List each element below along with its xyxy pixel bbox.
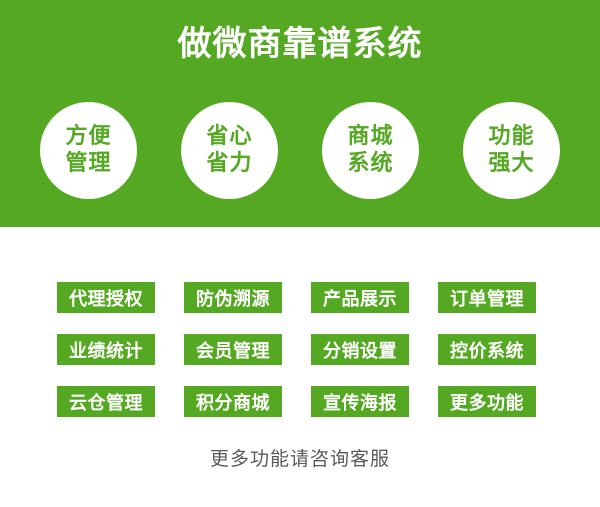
circle-label-line1: 功能	[488, 123, 534, 150]
highlight-circle-mall-system: 商城 系统	[322, 102, 419, 199]
feature-tag-cloud-warehouse-management[interactable]: 云仓管理	[57, 386, 155, 417]
feature-tag-promotional-poster[interactable]: 宣传海报	[311, 386, 409, 417]
feature-tag-price-control-system[interactable]: 控价系统	[438, 334, 536, 365]
circle-label-line1: 方便	[65, 123, 111, 150]
feature-tag-row: 业绩统计 会员管理 分销设置 控价系统	[57, 334, 536, 365]
promo-poster: 做微商靠谱系统 方便 管理 省心 省力 商城 系统 功能 强大 代理授权	[0, 0, 600, 507]
circle-label-line2: 管理	[65, 150, 111, 177]
feature-tag-distribution-settings[interactable]: 分销设置	[311, 334, 409, 365]
footer-note: 更多功能请咨询客服	[0, 446, 600, 472]
highlight-circle-powerful-features: 功能 强大	[463, 102, 560, 199]
hero-banner: 做微商靠谱系统 方便 管理 省心 省力 商城 系统 功能 强大	[0, 0, 600, 227]
feature-tag-member-management[interactable]: 会员管理	[184, 334, 282, 365]
circle-label-line2: 强大	[488, 150, 534, 177]
feature-tag-more-features[interactable]: 更多功能	[438, 386, 536, 417]
feature-tag-row: 代理授权 防伪溯源 产品展示 订单管理	[57, 282, 536, 313]
feature-tag-order-management[interactable]: 订单管理	[438, 282, 536, 313]
circle-label-line1: 省心	[206, 123, 252, 150]
circle-label-line2: 系统	[347, 150, 393, 177]
circle-label-line2: 省力	[206, 150, 252, 177]
highlight-circle-row: 方便 管理 省心 省力 商城 系统 功能 强大	[40, 101, 560, 199]
feature-tag-row: 云仓管理 积分商城 宣传海报 更多功能	[57, 386, 536, 417]
feature-tag-grid: 代理授权 防伪溯源 产品展示 订单管理 业绩统计 会员管理 分销设置 控价系统 …	[57, 282, 536, 417]
highlight-circle-effortless: 省心 省力	[181, 102, 278, 199]
circle-label-line1: 商城	[347, 123, 393, 150]
feature-tag-product-display[interactable]: 产品展示	[311, 282, 409, 313]
highlight-circle-convenient-management: 方便 管理	[40, 102, 137, 199]
feature-tag-agent-authorization[interactable]: 代理授权	[57, 282, 155, 313]
feature-tag-points-mall[interactable]: 积分商城	[184, 386, 282, 417]
feature-tag-anti-counterfeit-tracing[interactable]: 防伪溯源	[184, 282, 282, 313]
page-title: 做微商靠谱系统	[0, 22, 600, 66]
feature-tag-performance-statistics[interactable]: 业绩统计	[57, 334, 155, 365]
